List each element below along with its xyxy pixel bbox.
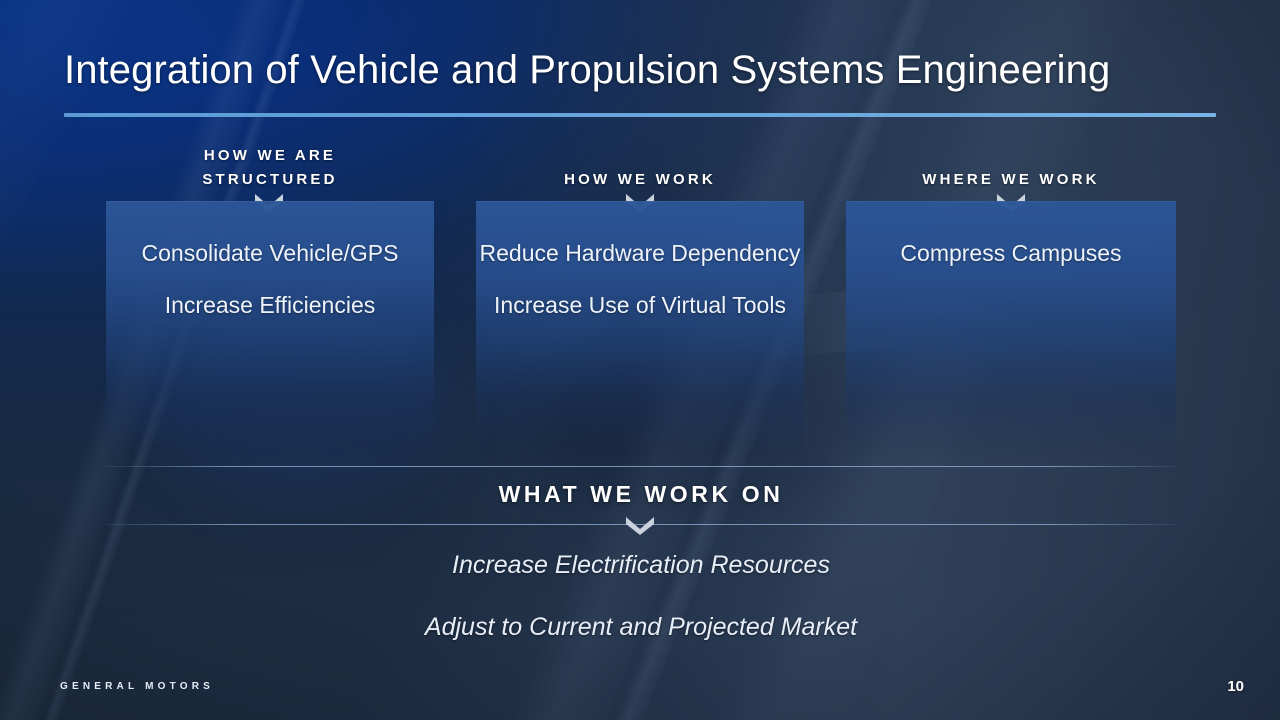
panel-structured: Consolidate Vehicle/GPS Increase Efficie… [106,201,434,466]
chevron-down-icon [625,516,655,535]
column-header-where-we-work: WHERE WE WORK [846,168,1176,192]
panel-where-we-work: Compress Campuses [846,201,1176,466]
column-header-line1: HOW WE WORK [476,168,804,192]
bottom-section-items: Increase Electrification Resources Adjus… [106,548,1176,644]
panel-body: Compress Campuses [846,201,1176,269]
divider-top [106,466,1176,467]
bottom-item: Increase Electrification Resources [106,548,1176,582]
title-underline [64,113,1216,117]
slide: Integration of Vehicle and Propulsion Sy… [0,0,1280,720]
column-header-line1: HOW WE ARE [106,144,434,168]
panel-body: Consolidate Vehicle/GPS Increase Efficie… [106,201,434,321]
panel-item: Reduce Hardware Dependency [476,237,804,269]
bottom-item: Adjust to Current and Projected Market [106,610,1176,644]
panel-item: Increase Efficiencies [106,289,434,321]
column-header-line1: WHERE WE WORK [846,168,1176,192]
column-header-how-we-work: HOW WE WORK [476,168,804,192]
panel-item: Compress Campuses [846,237,1176,269]
bottom-section-header: WHAT WE WORK ON [106,481,1176,508]
panel-body: Reduce Hardware Dependency Increase Use … [476,201,804,321]
column-header-line2: STRUCTURED [106,168,434,192]
column-header-structured: HOW WE ARE STRUCTURED [106,144,434,192]
panel-item: Increase Use of Virtual Tools [476,289,804,321]
panel-item: Consolidate Vehicle/GPS [106,237,434,269]
page-number: 10 [1227,678,1244,695]
slide-title: Integration of Vehicle and Propulsion Sy… [64,48,1110,93]
brand-label: GENERAL MOTORS [60,681,214,692]
panel-how-we-work: Reduce Hardware Dependency Increase Use … [476,201,804,466]
